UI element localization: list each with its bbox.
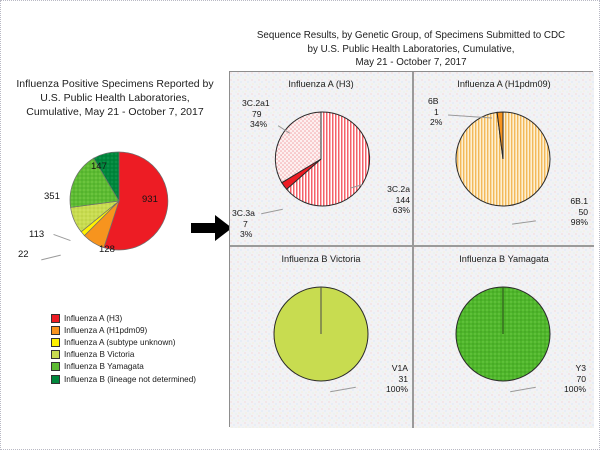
- left-pie-value-b-yamagata: 351: [44, 191, 60, 202]
- quadrant-title: Influenza B Yamagata: [414, 254, 594, 264]
- leader-line-3c3a: [261, 209, 283, 215]
- label-v1a-name: V1A: [354, 363, 408, 374]
- left-chart-title-line-2: U.S. Public Health Laboratories,: [9, 91, 221, 105]
- label-3c2a-name: 3C.2a: [358, 184, 410, 195]
- legend-item-influenza-b-lineage-not-determined: Influenza B (lineage not determined): [51, 373, 231, 385]
- label-y3: Y3 70 100%: [532, 363, 586, 395]
- label-y3-count: 70: [532, 374, 586, 385]
- right-chart-title-line-2: by U.S. Public Health Laboratories, Cumu…: [229, 43, 593, 57]
- legend-item-influenza-b-victoria: Influenza B Victoria: [51, 349, 231, 361]
- right-chart-title: Sequence Results, by Genetic Group, of S…: [229, 29, 593, 70]
- label-6b: 6B 1 2%: [428, 96, 442, 128]
- label-6b1-percent: 98%: [534, 217, 588, 228]
- label-3c3a-percent: 3%: [232, 229, 255, 240]
- legend-swatch-icon: [51, 350, 60, 359]
- right-arrow-icon: [191, 213, 233, 243]
- quadrant-influenza-b-victoria: Influenza B Victoria V1A 31 100%: [230, 247, 414, 428]
- left-chart-title-line-1: Influenza Positive Specimens Reported by: [9, 77, 221, 91]
- label-3c3a-count: 7: [232, 219, 255, 230]
- legend-swatch-icon: [51, 338, 60, 347]
- label-6b-count: 1: [428, 107, 442, 118]
- label-3c2a-percent: 63%: [358, 205, 410, 216]
- legend-item-influenza-a-h3: Influenza A (H3): [51, 312, 231, 324]
- legend-label: Influenza B Yamagata: [64, 362, 144, 371]
- quadrant-influenza-b-yamagata: Influenza B Yamagata Y3 70 100%: [414, 247, 594, 428]
- label-3c2a1-percent: 34%: [242, 119, 270, 130]
- legend-swatch-icon: [51, 362, 60, 371]
- label-y3-percent: 100%: [532, 384, 586, 395]
- label-v1a: V1A 31 100%: [354, 363, 408, 395]
- leader-line-v1a: [330, 387, 356, 392]
- legend-label: Influenza B (lineage not determined): [64, 375, 196, 384]
- left-pie-value-subtype-unknown: 22: [18, 249, 29, 260]
- left-chart-legend: Influenza A (H3) Influenza A (H1pdm09) I…: [51, 312, 231, 385]
- sequence-results-grid: Influenza A (H3): [229, 71, 593, 427]
- label-6b1: 6B.1 50 98%: [534, 196, 588, 228]
- label-v1a-percent: 100%: [354, 384, 408, 395]
- label-6b-percent: 2%: [428, 117, 442, 128]
- quadrant-influenza-a-h1pdm09: Influenza A (H1pdm09) 6B 1 2%: [414, 72, 594, 247]
- label-6b1-name: 6B.1: [534, 196, 588, 207]
- left-pie-value-b-victoria: 113: [29, 229, 44, 240]
- right-chart-title-line-1: Sequence Results, by Genetic Group, of S…: [229, 29, 593, 43]
- legend-swatch-icon: [51, 314, 60, 323]
- legend-label: Influenza A (subtype unknown): [64, 338, 176, 347]
- quadrant-title: Influenza A (H3): [230, 79, 412, 89]
- label-y3-name: Y3: [532, 363, 586, 374]
- legend-label: Influenza A (H1pdm09): [64, 326, 147, 335]
- label-3c2a: 3C.2a 144 63%: [358, 184, 410, 216]
- legend-item-influenza-a-h1pdm09: Influenza A (H1pdm09): [51, 324, 231, 336]
- label-3c3a-name: 3C.3a: [232, 208, 255, 219]
- right-chart-title-line-3: May 21 - October 7, 2017: [229, 56, 593, 70]
- left-pie-value-h3: 931: [142, 194, 158, 205]
- label-6b1-count: 50: [534, 207, 588, 218]
- label-3c3a: 3C.3a 7 3%: [232, 208, 255, 240]
- label-3c2a1-name: 3C.2a1: [242, 98, 270, 109]
- left-chart-title: Influenza Positive Specimens Reported by…: [9, 77, 221, 119]
- label-v1a-count: 31: [354, 374, 408, 385]
- legend-swatch-icon: [51, 375, 60, 384]
- quadrant-influenza-a-h3: Influenza A (H3): [230, 72, 414, 247]
- influenza-a-h1pdm09-pie: [454, 110, 552, 208]
- legend-label: Influenza B Victoria: [64, 350, 134, 359]
- leader-line-22: [41, 255, 61, 261]
- label-3c2a-count: 144: [358, 195, 410, 206]
- left-chart-title-line-3: Cumulative, May 21 - October 7, 2017: [9, 105, 221, 119]
- label-3c2a1-count: 79: [242, 109, 270, 120]
- legend-item-influenza-a-subtype-unknown: Influenza A (subtype unknown): [51, 336, 231, 348]
- leader-line-6b1: [512, 220, 536, 224]
- left-pie-value-h1pdm09: 128: [99, 244, 115, 255]
- label-3c2a1: 3C.2a1 79 34%: [242, 98, 270, 130]
- quadrant-title: Influenza A (H1pdm09): [414, 79, 594, 89]
- legend-label: Influenza A (H3): [64, 314, 122, 323]
- influenza-a-h3-pie: [272, 110, 370, 208]
- left-pie-value-b-lineage-nd: 147: [91, 161, 107, 172]
- quadrant-title: Influenza B Victoria: [230, 254, 412, 264]
- slide-canvas: Influenza Positive Specimens Reported by…: [0, 0, 600, 450]
- legend-swatch-icon: [51, 326, 60, 335]
- label-6b-name: 6B: [428, 96, 442, 107]
- legend-item-influenza-b-yamagata: Influenza B Yamagata: [51, 361, 231, 373]
